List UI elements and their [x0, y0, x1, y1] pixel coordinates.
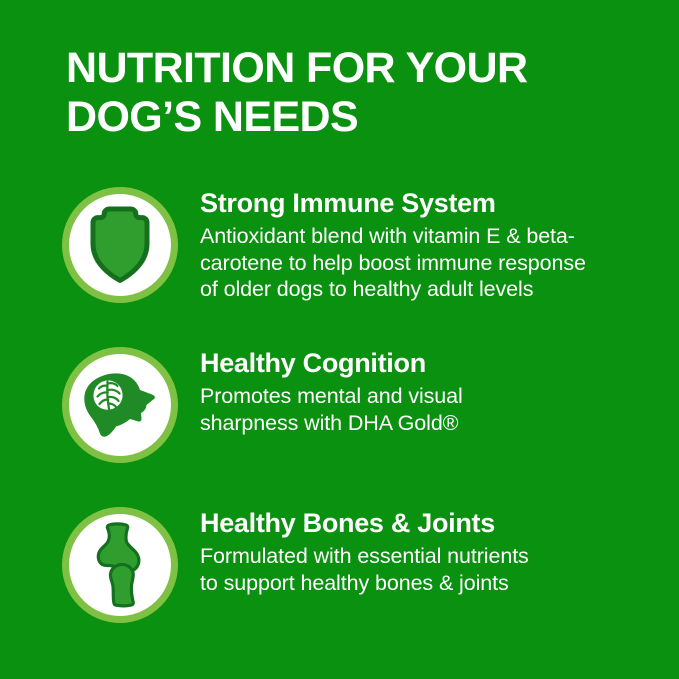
benefit-item-cognition: Healthy Cognition Promotes mental and vi… — [0, 343, 679, 475]
bone-joint-icon — [87, 522, 153, 608]
benefit-body-line: of older dogs to healthy adult levels — [200, 276, 670, 303]
benefit-text-immune: Strong Immune System Antioxidant blend w… — [178, 183, 670, 303]
benefits-list: Strong Immune System Antioxidant blend w… — [0, 183, 679, 663]
benefit-heading: Healthy Cognition — [200, 347, 670, 379]
benefit-body-line: Formulated with essential nutrients — [200, 543, 670, 570]
benefit-body-line: Promotes mental and visual — [200, 383, 670, 410]
nutrition-benefits-panel: NUTRITION FOR YOUR DOG’S NEEDS Strong Im… — [0, 0, 679, 679]
benefit-body-line: Antioxidant blend with vitamin E & beta- — [200, 223, 670, 250]
page-title: NUTRITION FOR YOUR DOG’S NEEDS — [66, 44, 626, 142]
benefit-body: Antioxidant blend with vitamin E & beta-… — [200, 223, 670, 303]
benefit-heading: Healthy Bones & Joints — [200, 507, 670, 539]
dog-head-brain-icon — [82, 372, 158, 438]
benefit-body-line: sharpness with DHA Gold® — [200, 410, 670, 437]
benefit-heading: Strong Immune System — [200, 187, 670, 219]
bone-joint-icon-badge — [62, 507, 178, 623]
shield-icon-badge — [62, 187, 178, 303]
benefit-body: Promotes mental and visual sharpness wit… — [200, 383, 670, 436]
shield-icon — [83, 206, 157, 284]
dog-head-brain-icon-badge — [62, 347, 178, 463]
benefit-body-line: to support healthy bones & joints — [200, 570, 670, 597]
benefit-item-immune: Strong Immune System Antioxidant blend w… — [0, 183, 679, 315]
benefit-text-cognition: Healthy Cognition Promotes mental and vi… — [178, 343, 670, 436]
benefit-body-line: carotene to help boost immune response — [200, 250, 670, 277]
benefit-item-bones-joints: Healthy Bones & Joints Formulated with e… — [0, 503, 679, 635]
benefit-text-bones-joints: Healthy Bones & Joints Formulated with e… — [178, 503, 670, 596]
benefit-body: Formulated with essential nutrients to s… — [200, 543, 670, 596]
